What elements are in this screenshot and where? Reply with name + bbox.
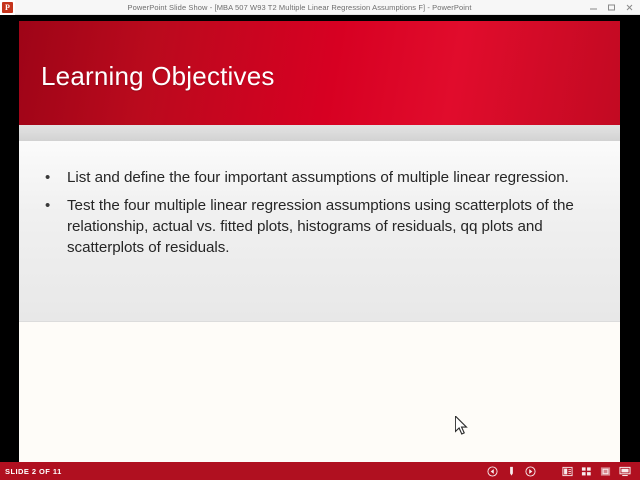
slide-show-stage[interactable]: Learning Objectives • List and define th… — [0, 15, 640, 462]
window-title-bar: P PowerPoint Slide Show - [MBA 507 W93 T… — [0, 0, 640, 15]
restore-button[interactable] — [602, 1, 620, 15]
window-controls — [584, 0, 638, 15]
presenter-view-icon[interactable] — [560, 465, 575, 478]
slide-counter: SLIDE 2 OF 11 — [0, 467, 62, 476]
bullet-text: Test the four multiple linear regression… — [67, 195, 602, 258]
close-button[interactable] — [620, 1, 638, 15]
slide-content-panel: • List and define the four important ass… — [19, 141, 620, 322]
powerpoint-app-icon: P — [0, 0, 15, 15]
bullet-list: • List and define the four important ass… — [41, 167, 602, 265]
slide-canvas[interactable]: Learning Objectives • List and define th… — [19, 21, 620, 462]
powerpoint-slideshow-window: P PowerPoint Slide Show - [MBA 507 W93 T… — [0, 0, 640, 480]
slide-lower-blank-area — [19, 322, 620, 462]
previous-slide-icon[interactable] — [485, 465, 500, 478]
next-slide-icon[interactable] — [523, 465, 538, 478]
bullet-marker-icon: • — [41, 167, 67, 188]
list-item: • Test the four multiple linear regressi… — [41, 195, 602, 258]
bullet-text: List and define the four important assum… — [67, 167, 602, 188]
slideshow-toolbar — [485, 465, 640, 478]
window-title-text: PowerPoint Slide Show - [MBA 507 W93 T2 … — [15, 3, 640, 12]
list-item: • List and define the four important ass… — [41, 167, 602, 188]
display-settings-icon[interactable] — [617, 465, 632, 478]
all-slides-grid-icon[interactable] — [579, 465, 594, 478]
zoom-slide-icon[interactable] — [598, 465, 613, 478]
bullet-marker-icon: • — [41, 195, 67, 216]
minimize-button[interactable] — [584, 1, 602, 15]
slide-title: Learning Objectives — [41, 61, 275, 92]
powerpoint-icon-letter: P — [2, 2, 13, 13]
banner-divider-band — [19, 125, 620, 141]
slideshow-status-bar: SLIDE 2 OF 11 — [0, 462, 640, 480]
slide-title-banner: Learning Objectives — [19, 21, 620, 125]
pen-tools-icon[interactable] — [504, 465, 519, 478]
